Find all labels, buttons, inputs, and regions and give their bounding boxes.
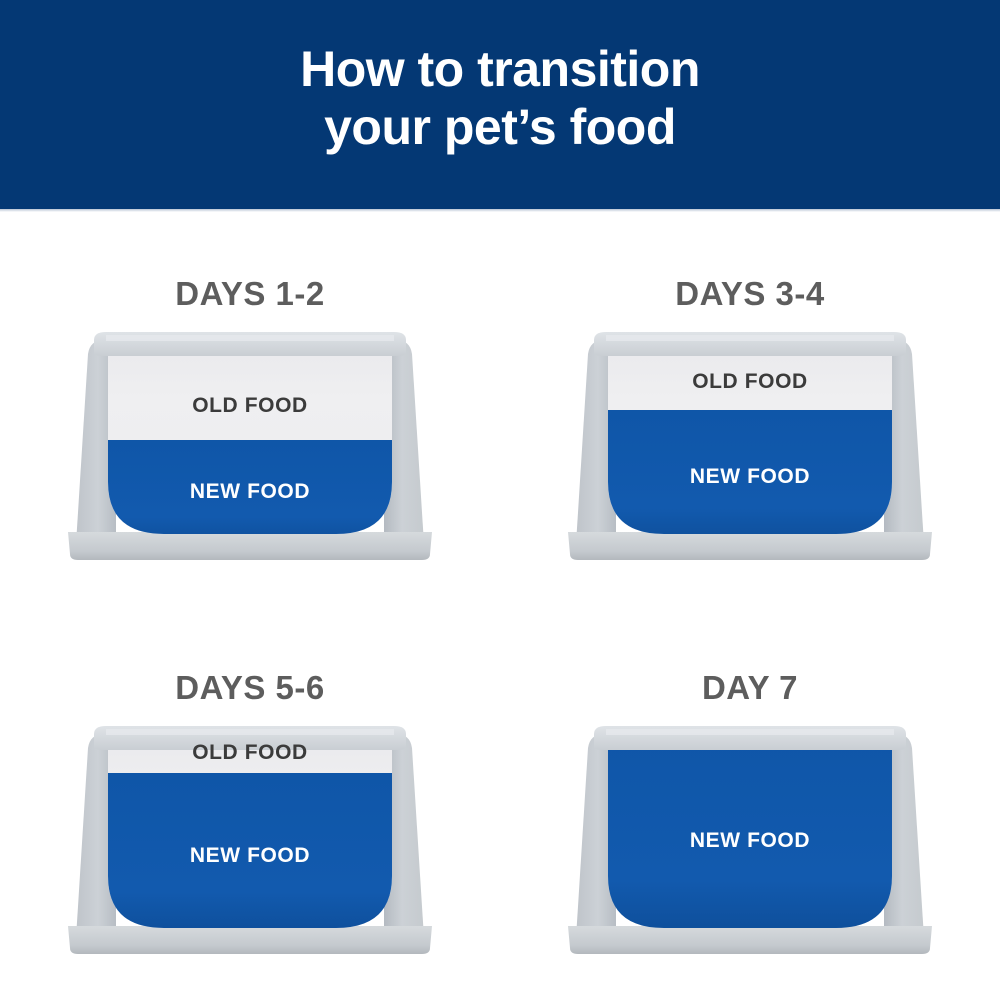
bowl-illustration xyxy=(60,332,440,577)
food-bowl-days-3-4: OLD FOOD NEW FOOD xyxy=(560,332,940,577)
step-title: DAYS 3-4 xyxy=(500,275,1000,313)
step-title: DAYS 1-2 xyxy=(0,275,500,313)
step-panel-days-5-6: DAYS 5-6 xyxy=(0,606,500,1000)
step-title: DAYS 5-6 xyxy=(0,669,500,707)
page-title: How to transition your pet’s food xyxy=(0,40,1000,156)
bowl-illustration xyxy=(60,726,440,971)
food-bowl-day-7: NEW FOOD xyxy=(560,726,940,971)
bowl-illustration xyxy=(560,726,940,971)
step-panel-day-7: DAY 7 xyxy=(500,606,1000,1000)
step-title: DAY 7 xyxy=(500,669,1000,707)
header-banner: How to transition your pet’s food xyxy=(0,0,1000,209)
step-panel-days-3-4: DAYS 3-4 xyxy=(500,212,1000,606)
step-panel-days-1-2: DAYS 1-2 xyxy=(0,212,500,606)
bowl-illustration xyxy=(560,332,940,577)
food-bowl-days-5-6: OLD FOOD NEW FOOD xyxy=(60,726,440,971)
food-bowl-days-1-2: OLD FOOD NEW FOOD xyxy=(60,332,440,577)
transition-steps-grid: DAYS 1-2 xyxy=(0,212,1000,1000)
